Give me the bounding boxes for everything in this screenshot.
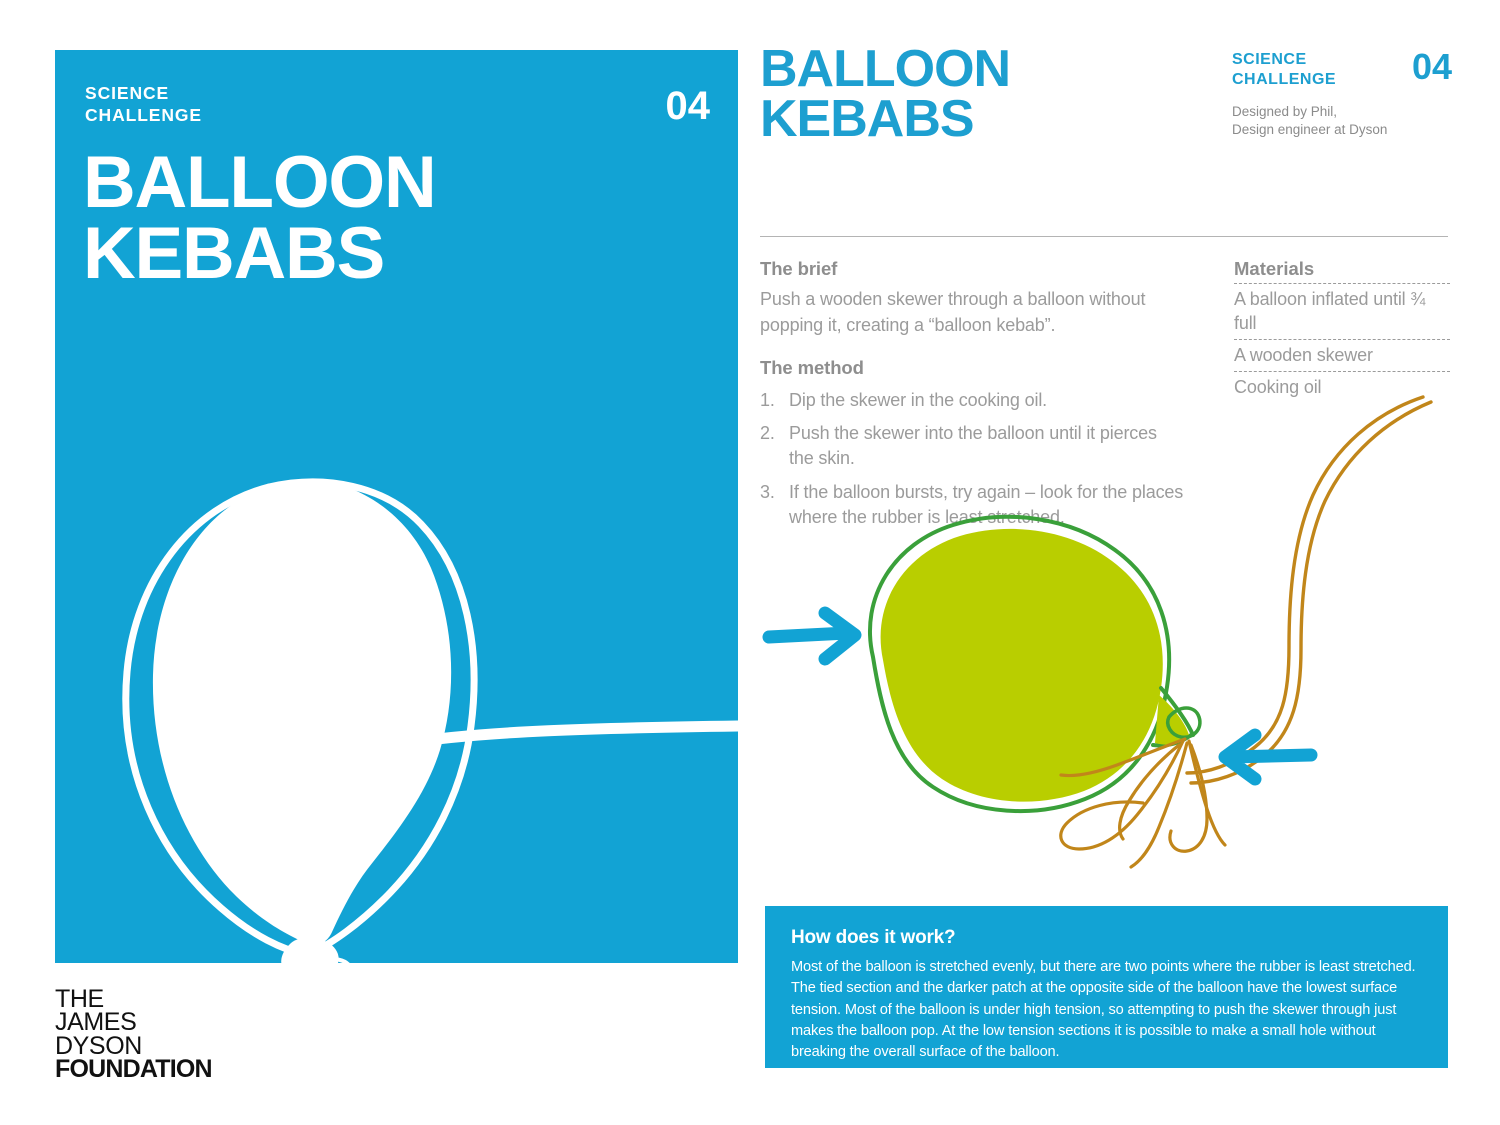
designer-credit: Designed by Phil, Design engineer at Dys… (1232, 103, 1452, 139)
header-meta: 04 SCIENCE CHALLENGE Designed by Phil, D… (1232, 50, 1452, 139)
brief-heading: The brief (760, 258, 1180, 280)
material-item: A balloon inflated until ¾ full (1234, 283, 1450, 339)
cover-skewer-stroke (407, 726, 738, 743)
logo-line-foundation: FOUNDATION (55, 1058, 212, 1081)
page-title: BALLOON KEBABS (760, 44, 1010, 145)
arrow-left-icon (1225, 735, 1311, 779)
credit-line1: Designed by Phil, (1232, 103, 1452, 121)
how-it-works-box: How does it work? Most of the balloon is… (765, 906, 1448, 1068)
skewer-edge-inner (1191, 402, 1431, 783)
brief-section: The brief Push a wooden skewer through a… (760, 258, 1180, 338)
cover-panel: SCIENCE CHALLENGE 04 BALLOON KEBABS (55, 50, 738, 963)
header-challenge-number: 04 (1412, 46, 1452, 88)
brief-text: Push a wooden skewer through a balloon w… (760, 287, 1180, 338)
logo-line-james: JAMES (55, 1011, 212, 1034)
materials-heading: Materials (1234, 258, 1450, 280)
arrow-right-icon (769, 613, 855, 659)
header-divider (760, 236, 1448, 237)
wooden-skewer-icon (1187, 397, 1431, 783)
james-dyson-foundation-logo: THE JAMES DYSON FOUNDATION (55, 988, 212, 1081)
credit-line2: Design engineer at Dyson (1232, 121, 1452, 139)
how-it-works-text: Most of the balloon is stretched evenly,… (791, 957, 1424, 1063)
page-title-line1: BALLOON (760, 44, 1010, 94)
how-it-works-heading: How does it work? (791, 927, 1424, 949)
balloon-kebab-illustration (755, 375, 1455, 895)
balloon-fill (881, 529, 1163, 802)
material-item: A wooden skewer (1234, 339, 1450, 371)
cover-balloon-illustration (55, 50, 738, 963)
poster: SCIENCE CHALLENGE 04 BALLOON KEBABS (0, 0, 1500, 1125)
green-balloon-icon (870, 517, 1200, 811)
page-title-line2: KEBABS (760, 94, 1010, 144)
white-balloon-icon (126, 480, 474, 963)
